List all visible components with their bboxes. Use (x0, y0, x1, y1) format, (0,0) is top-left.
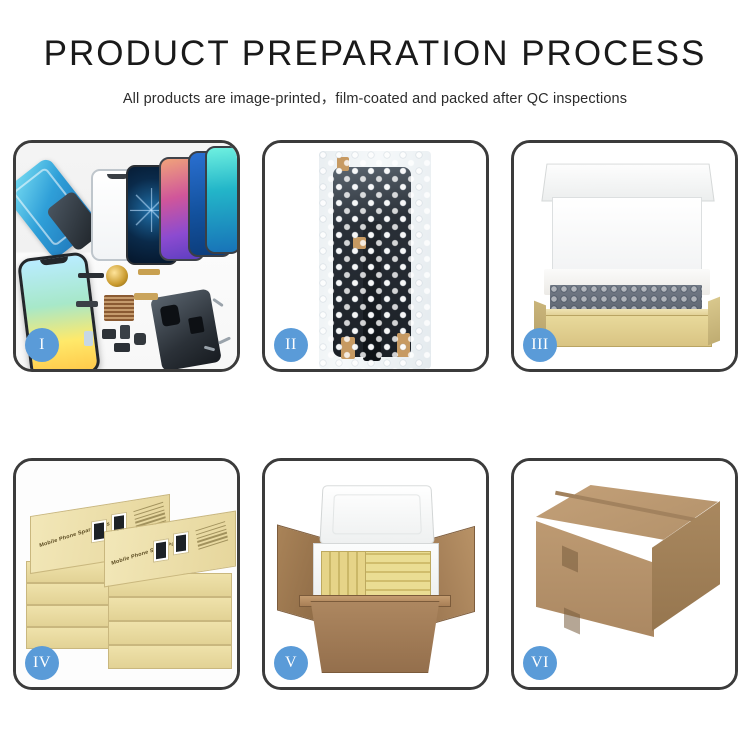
step-badge-5: V (274, 646, 308, 680)
part-chip-grid (104, 295, 134, 321)
step-badge-2: II (274, 328, 308, 362)
process-steps-grid: I II (13, 140, 739, 690)
step-panel-5: V (262, 458, 489, 690)
box-lid-back (541, 164, 714, 202)
carton-left-face (536, 521, 654, 637)
product-preparation-infographic: PRODUCT PREPARATION PROCESS All products… (0, 0, 750, 750)
part-flex-cable-c (134, 293, 158, 300)
bubble-wrap-bag (319, 151, 431, 369)
part-flex-cable-b (138, 269, 160, 275)
foam-box-lid (319, 485, 434, 544)
carton-front-face (305, 601, 445, 673)
step-panel-6: VI (511, 458, 738, 690)
part-component-b (120, 325, 130, 339)
step-panel-1: I (13, 140, 240, 372)
box-bullets-front (195, 521, 228, 552)
box-thumb-front-a (153, 538, 169, 563)
part-screw-b (218, 336, 231, 344)
step-panel-2: II (262, 140, 489, 372)
stacked-box-r2 (108, 645, 232, 669)
box-lid-face (552, 197, 702, 275)
step-panel-3: III (511, 140, 738, 372)
box-side-right (708, 297, 720, 346)
header: PRODUCT PREPARATION PROCESS All products… (0, 0, 750, 108)
step-badge-6: VI (523, 646, 557, 680)
phone-back-housing (150, 288, 222, 369)
page-subtitle: All products are image-printed，film-coat… (0, 87, 750, 108)
part-flex-cable-d (76, 301, 98, 307)
part-flex-cable-a (78, 273, 104, 278)
yellow-boxes-right (365, 551, 431, 599)
part-component-a (102, 329, 116, 339)
box-thumb-front-b (173, 531, 189, 556)
part-component-d (134, 333, 146, 345)
step-badge-3: III (523, 328, 557, 362)
box-front-face (542, 315, 712, 347)
step-badge-1: I (25, 328, 59, 362)
box-label-title-front: Mobile Phone Spare Parts (111, 539, 182, 567)
step-badge-4: IV (25, 646, 59, 680)
part-gold-coil (106, 265, 128, 287)
phone-teal (205, 146, 237, 254)
part-component-c (84, 331, 93, 346)
part-component-e (114, 343, 130, 352)
step-panel-4: Mobile Phone Spare Parts Mobile Phone Sp… (13, 458, 240, 690)
bubble-texture-highlight (319, 151, 431, 369)
stacked-box-r4 (108, 597, 232, 621)
part-screw-a (212, 298, 224, 307)
page-title: PRODUCT PREPARATION PROCESS (0, 34, 750, 74)
box-stack: Mobile Phone Spare Parts Mobile Phone Sp… (24, 477, 236, 677)
stacked-box-r3 (108, 621, 232, 645)
